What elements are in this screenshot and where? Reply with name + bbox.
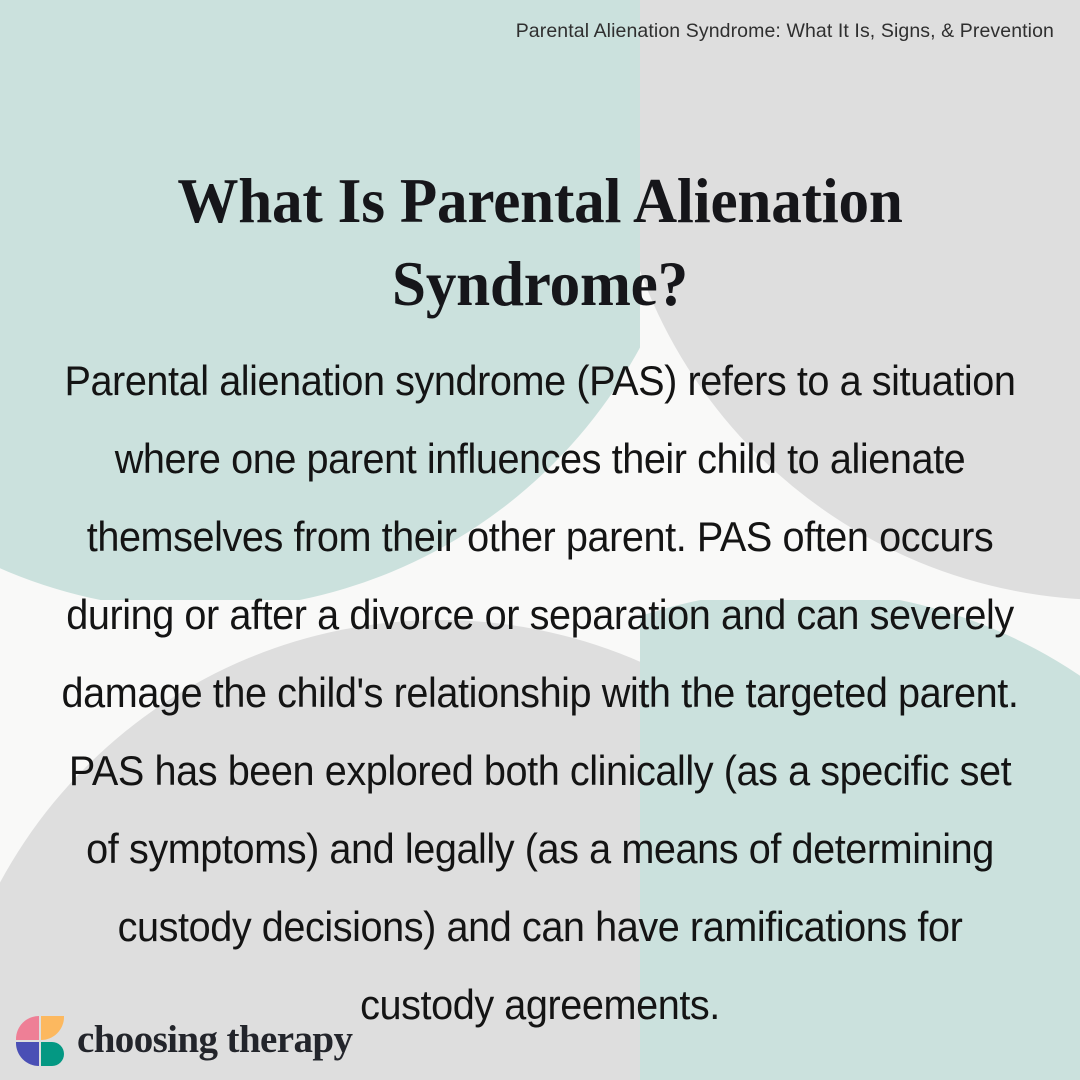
logo-quadrant-top-right-icon: [41, 1016, 64, 1040]
article-title-eyebrow: Parental Alienation Syndrome: What It Is…: [516, 20, 1054, 43]
body-paragraph: Parental alienation syndrome (PAS) refer…: [57, 342, 1023, 1044]
logo-quadrant-bottom-left-icon: [16, 1042, 39, 1066]
choosing-therapy-logo-icon: [16, 1016, 64, 1066]
brand-logo: choosing therapy: [16, 1016, 352, 1066]
page-title: What Is Parental Alienation Syndrome?: [74, 160, 1005, 326]
social-card: Parental Alienation Syndrome: What It Is…: [0, 0, 1080, 1080]
card-content: Parental Alienation Syndrome: What It Is…: [0, 0, 1080, 1080]
logo-quadrant-top-left-icon: [16, 1016, 39, 1040]
logo-quadrant-bottom-right-icon: [41, 1042, 64, 1066]
brand-wordmark: choosing therapy: [77, 1020, 352, 1062]
